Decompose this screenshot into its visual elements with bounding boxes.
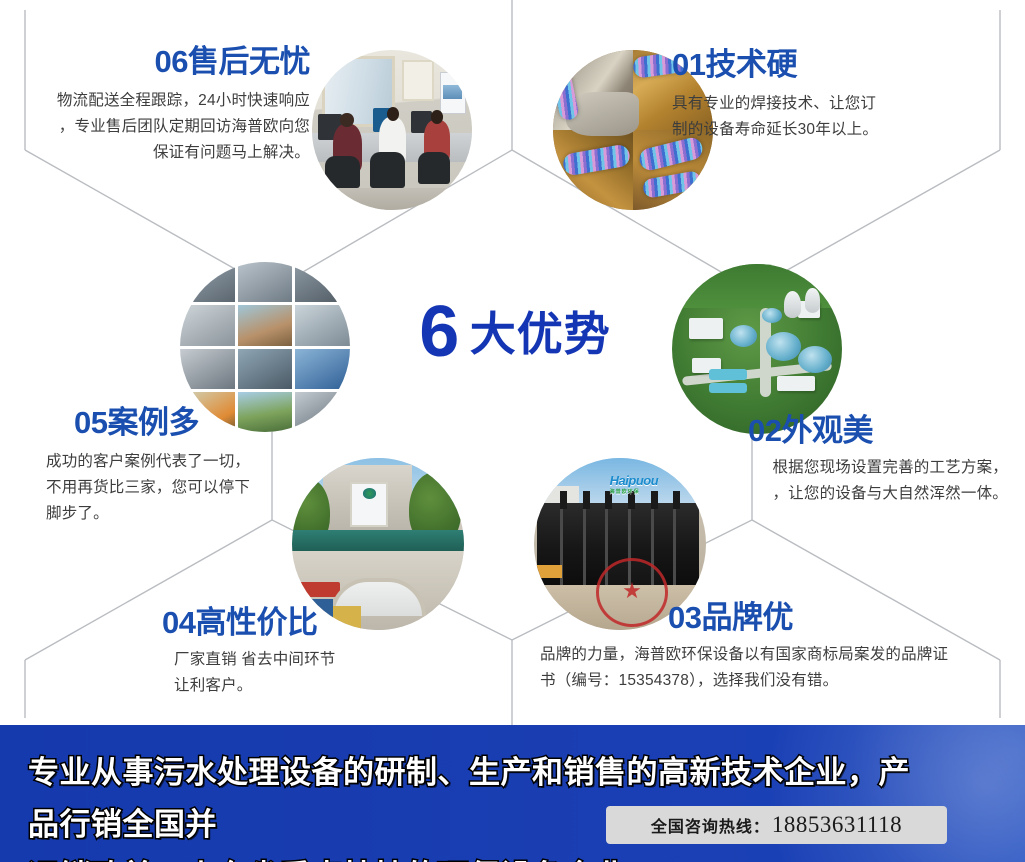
gate-green-wall bbox=[292, 530, 464, 551]
tank-rib bbox=[583, 503, 586, 586]
tank-fin bbox=[560, 491, 567, 509]
center-suffix: 大优势 bbox=[470, 308, 611, 360]
aerial-clarifier-4 bbox=[762, 308, 782, 323]
aerial-plant-inner bbox=[672, 264, 842, 434]
banner-text: 专业从事污水处理设备的研制、生产和销售的高新技术企业，产品行销全国并 远销欧美，… bbox=[28, 747, 928, 862]
gate-red-banner bbox=[299, 582, 340, 597]
office-chair-1 bbox=[325, 156, 360, 188]
tank-fin bbox=[583, 491, 590, 509]
office-floor bbox=[312, 188, 472, 210]
office-photo-inner bbox=[312, 50, 472, 210]
case-tile bbox=[295, 349, 350, 389]
office-window-2 bbox=[402, 60, 434, 102]
advantage-03: 03品牌优 品牌的力量，海普欧环保设备以有国家商标局案发的品牌证 书（编号：15… bbox=[540, 600, 1020, 694]
case-tile bbox=[295, 305, 350, 345]
advantage-04-title: 04高性价比 bbox=[162, 605, 450, 641]
advantage-02-line-2: ，让您的设备与大自然浑然一体。 bbox=[690, 481, 1008, 507]
aerial-pool-1 bbox=[709, 369, 746, 379]
office-photo bbox=[312, 50, 472, 210]
case-tile bbox=[295, 262, 350, 302]
advantage-01-line-1: 具有专业的焊接技术、让您订 bbox=[672, 91, 1002, 117]
aerial-silo-1 bbox=[784, 291, 801, 318]
advantage-06-line-3: 保证有问题马上解决。 bbox=[10, 140, 310, 166]
brand-logo-text: Haipuou bbox=[610, 473, 659, 488]
center-number: 6 bbox=[419, 292, 459, 372]
hotline-label: 全国咨询热线： bbox=[651, 813, 770, 837]
advantage-02-line-1: 根据您现场设置完善的工艺方案， bbox=[690, 455, 1008, 481]
advantage-02: 02外观美 根据您现场设置完善的工艺方案， ，让您的设备与大自然浑然一体。 bbox=[690, 413, 1008, 507]
advantage-06: 06售后无忧 物流配送全程跟踪，24小时快速响应 ，专业售后团队定期回访海普欧向… bbox=[10, 44, 310, 166]
gate-company-sign bbox=[350, 482, 388, 527]
brand-logo-subtext: 海普欧环保 bbox=[610, 488, 682, 495]
advantage-04-line-1: 厂家直销 省去中间环节 bbox=[174, 647, 450, 673]
advantage-04-line-2: 让利客户。 bbox=[174, 673, 450, 699]
office-chair-3 bbox=[418, 152, 450, 184]
case-tile bbox=[180, 349, 235, 389]
aerial-building-3 bbox=[777, 376, 814, 391]
hotline-box[interactable]: 全国咨询热线： 18853631118 bbox=[606, 806, 947, 844]
advantage-01-title: 01技术硬 bbox=[672, 47, 1002, 83]
aerial-clarifier-1 bbox=[730, 325, 757, 347]
aerial-pool-2 bbox=[709, 383, 746, 393]
advantage-03-title: 03品牌优 bbox=[668, 600, 1020, 636]
hotline-number: 18853631118 bbox=[772, 812, 902, 838]
center-label: 6 大优势 bbox=[400, 296, 630, 368]
aerial-silo-2 bbox=[805, 288, 820, 314]
aerial-clarifier-3 bbox=[798, 346, 832, 373]
advantage-03-description: 品牌的力量，海普欧环保设备以有国家商标局案发的品牌证 书（编号：15354378… bbox=[540, 642, 1020, 694]
advantage-04: 04高性价比 厂家直销 省去中间环节 让利客户。 bbox=[130, 605, 450, 699]
case-tile bbox=[238, 305, 293, 345]
office-chair-2 bbox=[370, 152, 405, 187]
advantage-02-description: 根据您现场设置完善的工艺方案， ，让您的设备与大自然浑然一体。 bbox=[690, 455, 1008, 507]
office-poster bbox=[440, 72, 466, 114]
banner-line-2: 远销欧美，山东省重点扶持的环保设备企业。 bbox=[28, 851, 928, 862]
advantage-03-line-1: 品牌的力量，海普欧环保设备以有国家商标局案发的品牌证 bbox=[540, 642, 1020, 668]
advantage-02-title: 02外观美 bbox=[748, 413, 1008, 449]
tank-rib bbox=[673, 503, 676, 586]
advantages-infographic: 06售后无忧 物流配送全程跟踪，24小时快速响应 ，专业售后团队定期回访海普欧向… bbox=[0, 0, 1025, 862]
case-tile bbox=[180, 305, 235, 345]
advantage-01: 01技术硬 具有专业的焊接技术、让您订 制的设备寿命延长30年以上。 bbox=[672, 47, 1002, 143]
aerial-building-1 bbox=[689, 318, 723, 338]
case-tile bbox=[238, 349, 293, 389]
case-tile bbox=[180, 262, 235, 302]
advantage-06-line-1: 物流配送全程跟踪，24小时快速响应 bbox=[10, 88, 310, 114]
advantage-06-title: 06售后无忧 bbox=[10, 44, 310, 80]
aerial-clarifier-2 bbox=[766, 332, 802, 361]
advantage-01-description: 具有专业的焊接技术、让您订 制的设备寿命延长30年以上。 bbox=[672, 91, 1002, 143]
advantage-04-description: 厂家直销 省去中间环节 让利客户。 bbox=[174, 647, 450, 699]
advantage-06-line-2: ，专业售后团队定期回访海普欧向您 bbox=[10, 114, 310, 140]
advantage-01-line-2: 制的设备寿命延长30年以上。 bbox=[672, 117, 1002, 143]
advantage-05-title: 05案例多 bbox=[74, 405, 336, 441]
brand-logo: Haipuou 海普欧环保 bbox=[610, 473, 682, 494]
case-tile bbox=[238, 262, 293, 302]
advantage-03-line-2: 书（编号：15354378），选择我们没有错。 bbox=[540, 668, 1020, 694]
advantage-06-description: 物流配送全程跟踪，24小时快速响应 ，专业售后团队定期回访海普欧向您 保证有问题… bbox=[10, 88, 310, 166]
aerial-plant-photo bbox=[672, 264, 842, 434]
tank-orange-strip bbox=[534, 565, 562, 579]
